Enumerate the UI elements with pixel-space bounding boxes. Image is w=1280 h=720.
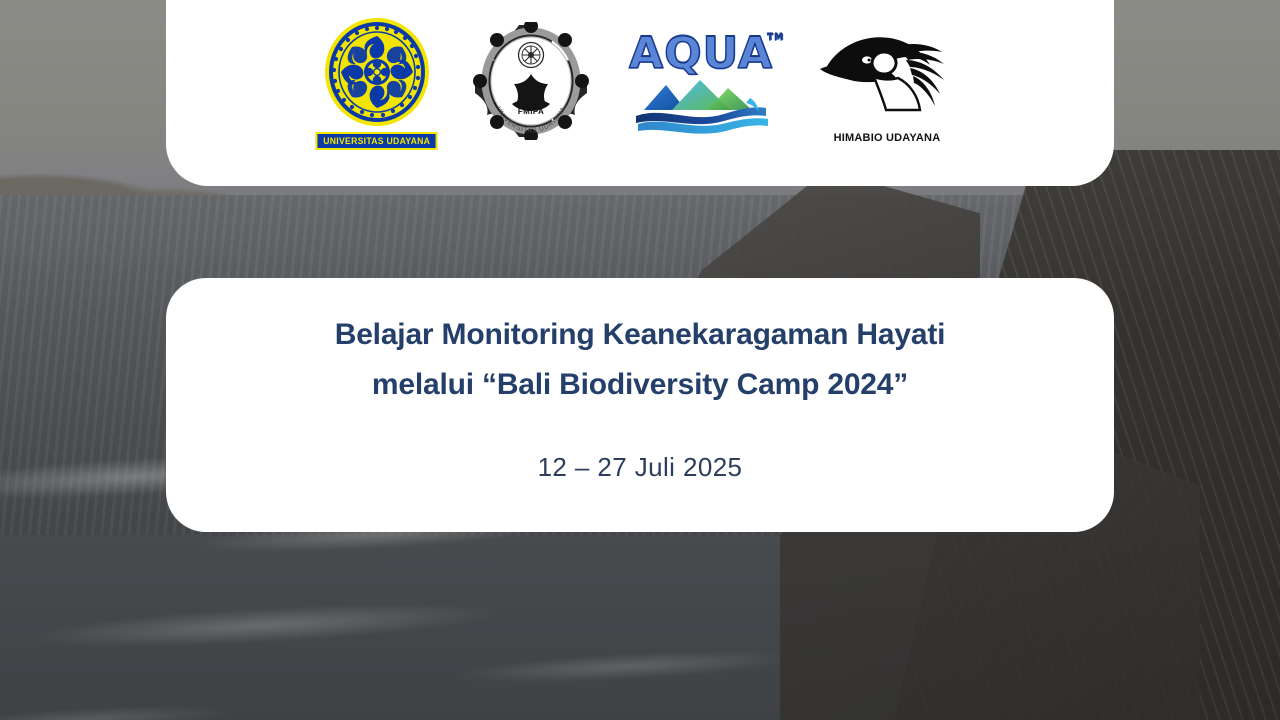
title-card: Belajar Monitoring Keanekaragaman Hayati… bbox=[166, 278, 1114, 532]
aqua-wordmark-text: AQUA bbox=[629, 28, 773, 79]
fmipa-udayana-logo: FMIPA UNIVERSITAS UDAYANA bbox=[472, 22, 590, 145]
fmipa-center-text: FMIPA bbox=[518, 107, 544, 116]
poster-stage: UNIVERSITAS UDAYANA bbox=[0, 0, 1280, 720]
event-title-line-1: Belajar Monitoring Keanekaragaman Hayati bbox=[220, 310, 1060, 360]
aqua-mountain-wave-icon bbox=[630, 76, 772, 134]
aqua-logo: AQUA TM bbox=[626, 32, 776, 134]
logo-card: UNIVERSITAS UDAYANA bbox=[166, 0, 1114, 186]
event-date: 12 – 27 Juli 2025 bbox=[538, 452, 743, 483]
himabio-bird-head-icon bbox=[812, 22, 962, 130]
event-title-line-2: melalui “Bali Biodiversity Camp 2024” bbox=[220, 360, 1060, 410]
event-title: Belajar Monitoring Keanekaragaman Hayati… bbox=[220, 310, 1060, 410]
aqua-trademark-icon: TM bbox=[767, 34, 784, 43]
aqua-wordmark: AQUA TM bbox=[629, 32, 773, 76]
universitas-udayana-banner-label: UNIVERSITAS UDAYANA bbox=[316, 132, 438, 150]
logo-row: UNIVERSITAS UDAYANA bbox=[318, 16, 962, 150]
himabio-label: HIMABIO UDAYANA bbox=[834, 132, 941, 144]
himabio-udayana-logo: HIMABIO UDAYANA bbox=[812, 22, 962, 144]
fmipa-emblem-icon: FMIPA UNIVERSITAS UDAYANA bbox=[472, 22, 590, 140]
universitas-udayana-logo: UNIVERSITAS UDAYANA bbox=[318, 16, 436, 150]
universitas-udayana-emblem-icon bbox=[321, 16, 433, 128]
